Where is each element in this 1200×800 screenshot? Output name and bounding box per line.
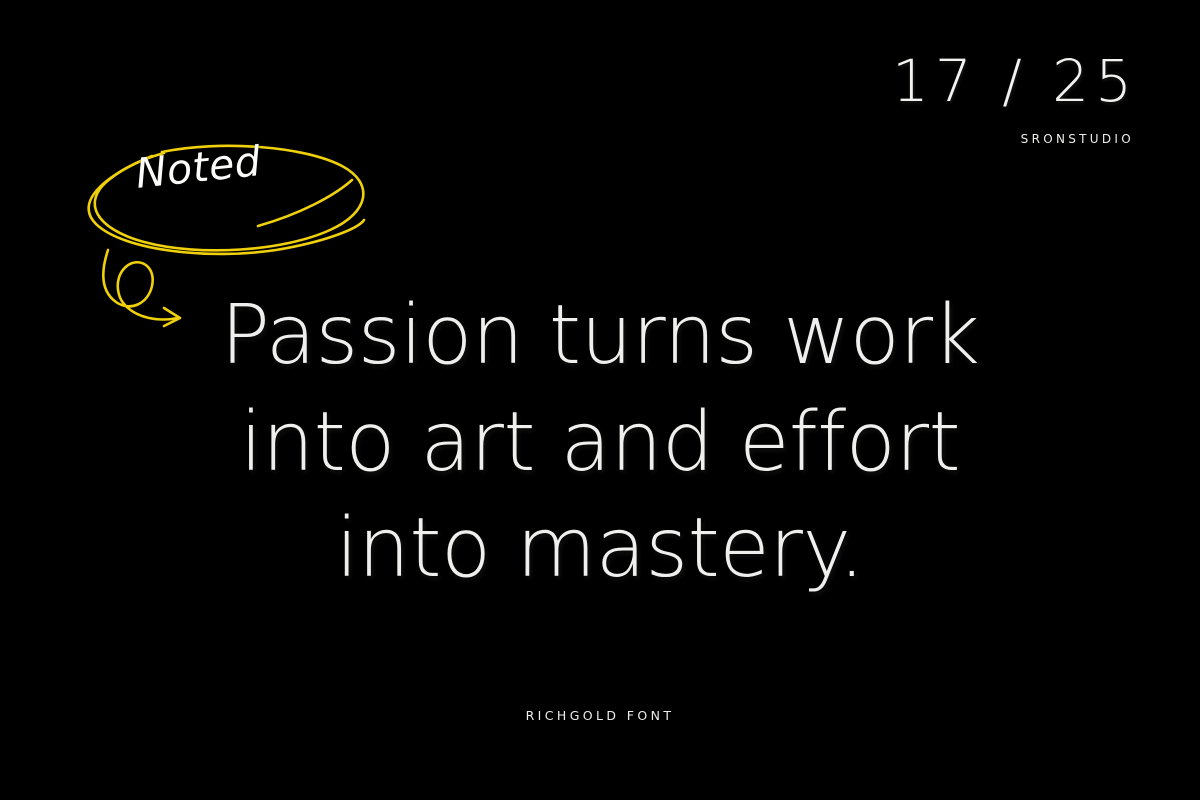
headline-line: into mastery. <box>0 496 1200 603</box>
studio-name: SRONSTUDIO <box>892 132 1134 146</box>
font-name-caption: RICHGOLD FONT <box>0 708 1200 723</box>
noted-label: Noted <box>134 141 263 195</box>
headline-line: Passion turns work <box>0 283 1200 390</box>
header-block: 17 / 25 SRONSTUDIO <box>892 52 1138 146</box>
ellipse-tail-stroke <box>258 180 352 226</box>
page-counter: 17 / 25 <box>892 52 1138 110</box>
poster-canvas: 17 / 25 SRONSTUDIO Noted Passion turns <box>0 0 1200 800</box>
headline-line: into art and effort <box>0 390 1200 497</box>
headline-quote: Passion turns work into art and effort i… <box>0 283 1200 603</box>
